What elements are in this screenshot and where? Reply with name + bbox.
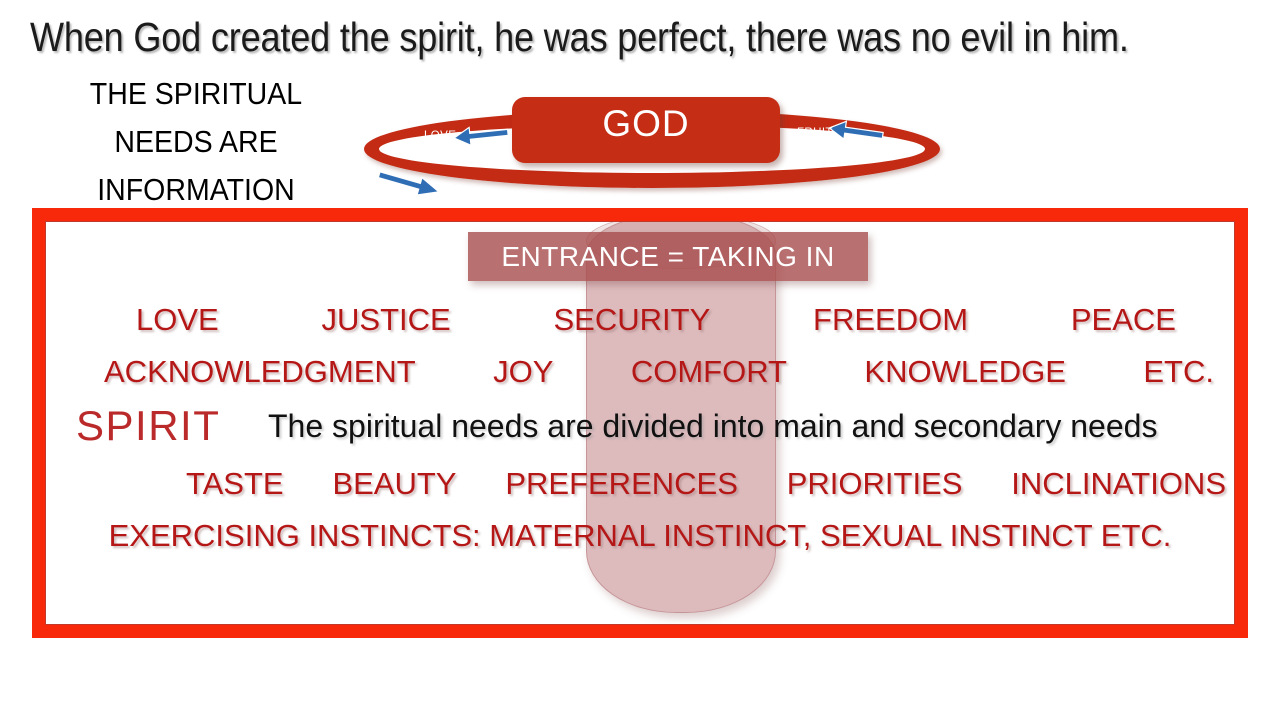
left-caption-line-2: NEEDS ARE: [73, 118, 320, 166]
spirit-label: SPIRIT: [76, 402, 220, 450]
entrance-banner-label: ENTRANCE = TAKING IN: [501, 241, 834, 273]
need-item: LOVE: [136, 302, 219, 338]
need-item: TASTE: [186, 466, 284, 502]
need-item: PRIORITIES: [787, 466, 963, 502]
god-ring-diagram: LOVE FRUIT WORD OF GOD GOD: [360, 96, 950, 202]
need-item: JUSTICE: [322, 302, 451, 338]
entrance-banner: ENTRANCE = TAKING IN: [468, 232, 868, 281]
page-title: When God created the spirit, he was perf…: [30, 12, 1130, 62]
need-item: FREEDOM: [813, 302, 968, 338]
ring-label-love: LOVE: [424, 130, 456, 142]
left-caption-line-1: THE SPIRITUAL: [73, 70, 320, 118]
secondary-needs-row-2: EXERCISING INSTINCTS: MATERNAL INSTINCT,…: [46, 518, 1234, 554]
need-item: SECURITY: [554, 302, 711, 338]
need-item: ETC.: [1143, 354, 1214, 390]
spirit-panel: ENTRANCE = TAKING IN LOVE JUSTICE SECURI…: [32, 208, 1248, 638]
need-item: ACKNOWLEDGMENT: [104, 354, 416, 390]
spirit-sentence: The spiritual needs are divided into mai…: [268, 408, 1157, 445]
god-label: GOD: [512, 103, 780, 145]
ring-label-word-of-god: WORD OF GOD: [434, 181, 524, 204]
god-box: GOD: [512, 97, 780, 163]
ring-label-fruit: FRUIT: [797, 127, 833, 139]
need-item: BEAUTY: [332, 466, 456, 502]
spirit-panel-inner: ENTRANCE = TAKING IN LOVE JUSTICE SECURI…: [45, 221, 1235, 625]
need-item: COMFORT: [631, 354, 787, 390]
need-item: PREFERENCES: [505, 466, 738, 502]
need-item: KNOWLEDGE: [864, 354, 1066, 390]
left-caption-block: THE SPIRITUAL NEEDS ARE INFORMATION: [73, 70, 320, 214]
main-needs-row-1: LOVE JUSTICE SECURITY FREEDOM PEACE: [136, 302, 1216, 338]
need-item: INCLINATIONS: [1011, 466, 1226, 502]
secondary-needs-row-1: TASTE BEAUTY PREFERENCES PRIORITIES INCL…: [186, 466, 1226, 502]
fruit-arrow-icon: [827, 119, 889, 145]
word-of-god-arrow-icon: [372, 168, 444, 198]
main-needs-row-2: ACKNOWLEDGMENT JOY COMFORT KNOWLEDGE ETC…: [104, 354, 1214, 390]
left-caption-line-3: INFORMATION: [73, 166, 320, 214]
love-arrow-icon: [452, 122, 514, 148]
need-item: JOY: [493, 354, 553, 390]
need-item: PEACE: [1071, 302, 1176, 338]
